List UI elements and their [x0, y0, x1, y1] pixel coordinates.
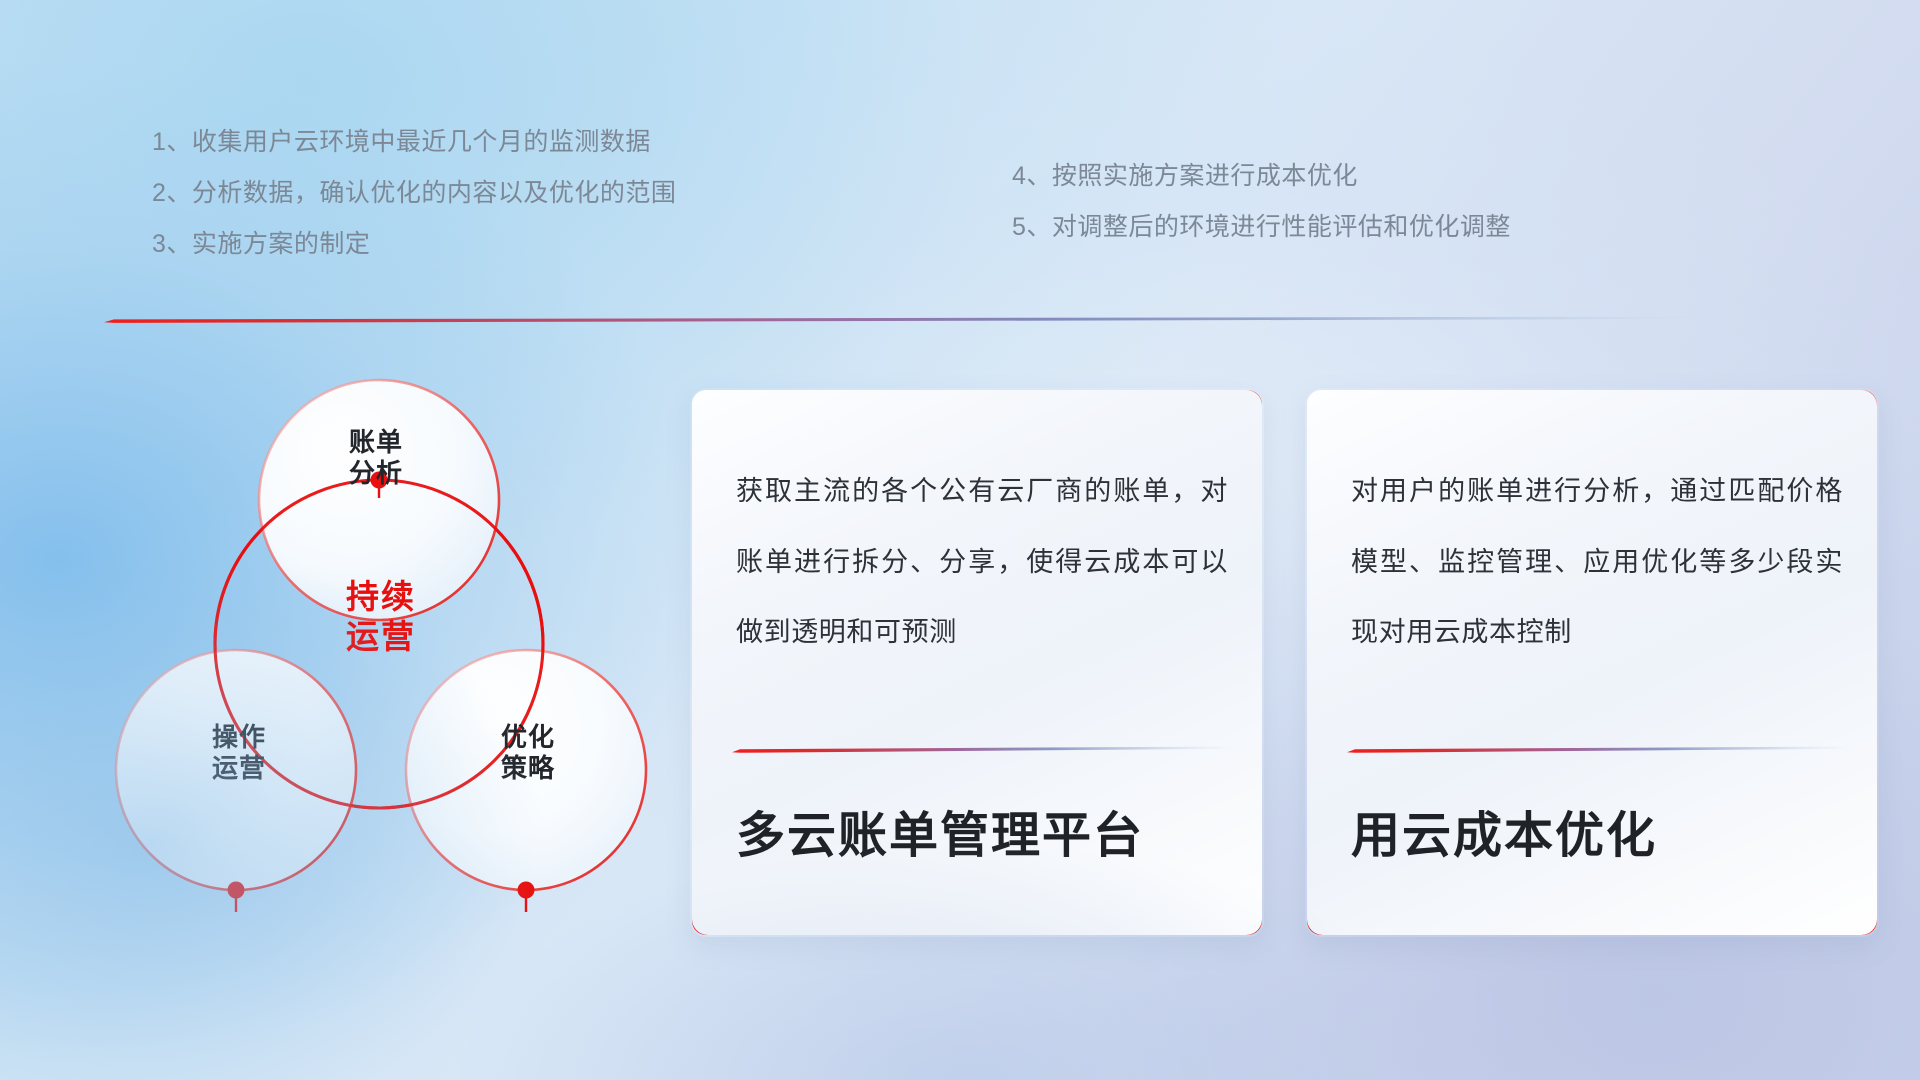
card-2-title: 用云成本优化 — [1351, 810, 1847, 864]
continuous-operations-diagram — [96, 352, 676, 952]
step-item-2: 2、分析数据，确认优化的内容以及优化的范围 — [152, 181, 676, 206]
node-left — [228, 882, 245, 913]
bubble-right — [406, 650, 646, 890]
step-item-1: 1、收集用户云环境中最近几个月的监测数据 — [152, 130, 676, 155]
card-1-divider — [732, 746, 1232, 753]
card-2-divider — [1347, 746, 1847, 753]
bubble-left — [116, 650, 356, 890]
bubble-top — [259, 380, 499, 620]
step-item-3: 3、实施方案的制定 — [152, 232, 676, 257]
section-divider — [104, 316, 1704, 323]
steps-right-column: 4、按照实施方案进行成本优化 5、对调整后的环境进行性能评估和优化调整 — [1012, 164, 1511, 266]
steps-left-column: 1、收集用户云环境中最近几个月的监测数据 2、分析数据，确认优化的内容以及优化的… — [152, 130, 676, 283]
step-item-5: 5、对调整后的环境进行性能评估和优化调整 — [1012, 215, 1511, 240]
node-right — [518, 882, 535, 913]
card-2-description: 对用户的账单进行分析，通过匹配价格模型、监控管理、应用优化等多少段实现对用云成本… — [1351, 456, 1843, 668]
feature-card-multicloud-billing[interactable]: 获取主流的各个公有云厂商的账单，对账单进行拆分、分享，使得云成本可以做到透明和可… — [690, 388, 1264, 937]
slide-canvas: 1、收集用户云环境中最近几个月的监测数据 2、分析数据，确认优化的内容以及优化的… — [0, 0, 1920, 1080]
feature-card-cloud-cost-optimization[interactable]: 对用户的账单进行分析，通过匹配价格模型、监控管理、应用优化等多少段实现对用云成本… — [1305, 388, 1879, 937]
card-1-description: 获取主流的各个公有云厂商的账单，对账单进行拆分、分享，使得云成本可以做到透明和可… — [736, 456, 1228, 668]
card-1-title: 多云账单管理平台 — [736, 810, 1232, 864]
step-item-4: 4、按照实施方案进行成本优化 — [1012, 164, 1511, 189]
